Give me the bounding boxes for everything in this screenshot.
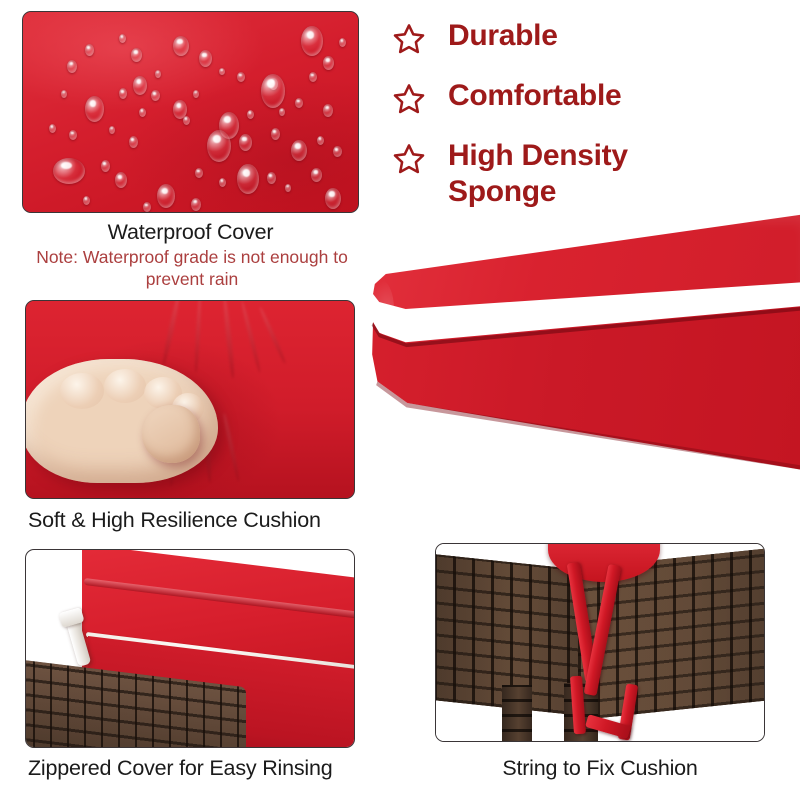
caption-string-fix: String to Fix Cushion [435, 756, 765, 781]
infographic-canvas: Waterproof Cover Note: Waterproof grade … [0, 0, 800, 800]
feature-item-comfortable: Comfortable [392, 78, 792, 116]
panel-zippered-cover [25, 549, 355, 748]
panel-string-fix [435, 543, 765, 742]
star-icon [392, 82, 426, 116]
feature-list: Durable Comfortable High Density Sponge [392, 18, 792, 232]
feature-label: High Density Sponge [448, 138, 628, 210]
zipper-cushion-image [26, 550, 354, 747]
caption-soft-resilience: Soft & High Resilience Cushion [10, 508, 388, 533]
resilience-cushion-image [26, 301, 354, 498]
star-icon [392, 142, 426, 176]
feature-item-high-density-sponge: High Density Sponge [392, 138, 792, 210]
feature-label: Durable [448, 18, 558, 54]
cushion-corner-highlight [368, 280, 394, 338]
waterproof-fabric-image [23, 12, 358, 212]
caption-waterproof-cover: Waterproof Cover [22, 220, 359, 245]
note-waterproof-grade: Note: Waterproof grade is not enough to … [12, 246, 372, 290]
string-corner-image [436, 544, 764, 741]
hero-cushion-image [366, 214, 800, 484]
star-icon [392, 22, 426, 56]
hand-thumb [142, 405, 200, 463]
feature-item-durable: Durable [392, 18, 792, 56]
panel-waterproof-cover [22, 11, 359, 213]
panel-soft-resilience [25, 300, 355, 499]
caption-zippered-cover: Zippered Cover for Easy Rinsing [10, 756, 408, 781]
feature-label: Comfortable [448, 78, 621, 114]
